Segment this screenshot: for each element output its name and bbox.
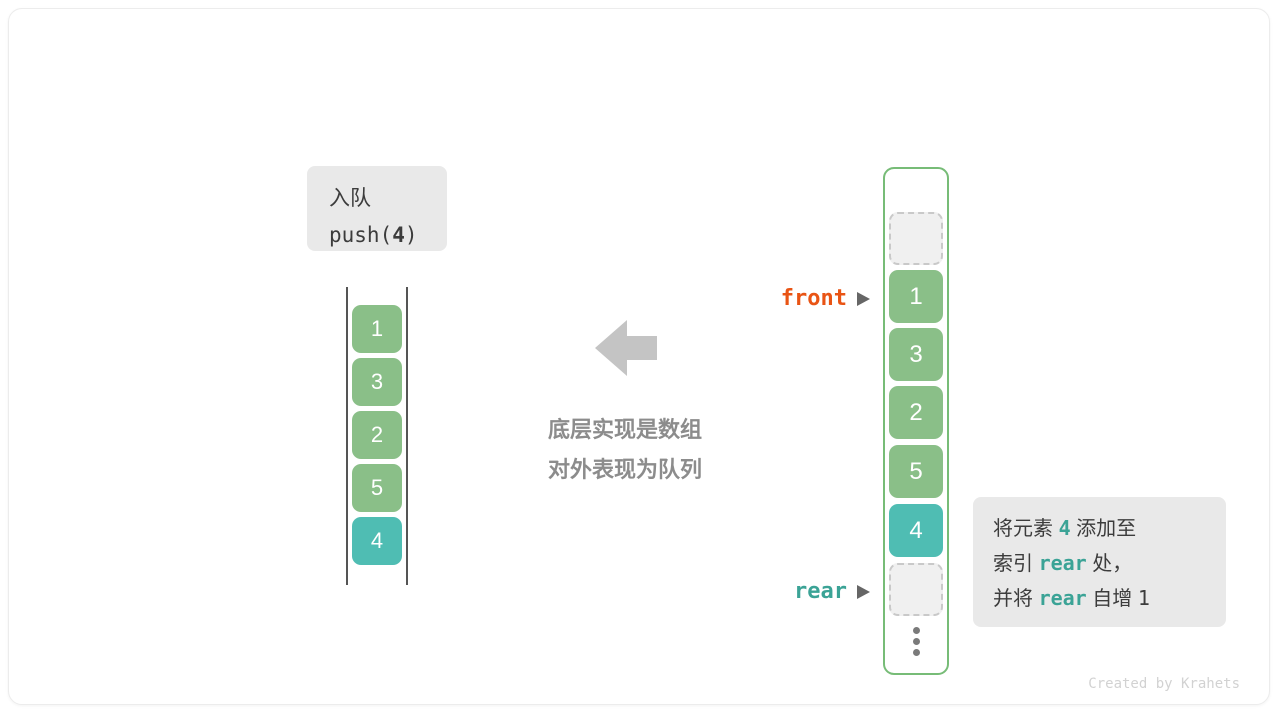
center-caption-line-2: 对外表现为队列 [460,450,790,490]
triangle-right-icon [857,292,870,306]
note-line-3: 并将 rear 自增 1 [993,581,1226,616]
note-number: 1 [1138,586,1150,610]
queue-slot-empty [889,563,943,616]
note-code: 4 [1059,516,1071,540]
left-array-cell: 1 [352,305,402,353]
note-text: 自增 [1087,588,1138,610]
front-pointer: front [700,286,870,311]
note-text: 索引 [993,553,1039,575]
queue-slot: 1 [889,270,943,323]
queue-slot: 5 [889,445,943,498]
note-text: 处， [1087,553,1133,575]
front-pointer-label: front [781,286,847,311]
push-label-title: 入队 [329,180,447,217]
rear-pointer: rear [700,579,870,604]
note-code: rear [1039,551,1087,575]
note-line-2: 索引 rear 处， [993,546,1226,581]
left-array-cell-highlight: 4 [352,517,402,565]
push-call-arg: 4 [392,223,405,247]
note-text: 添加至 [1071,518,1137,540]
push-call-open: push( [329,223,392,247]
push-call-close: ) [405,223,418,247]
vertical-ellipsis-icon-bottom [885,625,947,658]
left-array-cell: 5 [352,464,402,512]
center-caption-line-1: 底层实现是数组 [460,410,790,450]
diagram-canvas: 入队 push(4) 1 3 2 5 4 底层实现是数组 对外表现为队列 fro… [0,0,1280,720]
operation-note: 将元素 4 添加至 索引 rear 处， 并将 rear 自增 1 [973,497,1226,627]
note-line-1: 将元素 4 添加至 [993,511,1226,546]
left-array-cell: 2 [352,411,402,459]
queue-slot: 2 [889,386,943,439]
queue-slot-highlight: 4 [889,504,943,557]
push-operation-label: 入队 push(4) [307,166,447,251]
arrow-left-icon [593,318,659,378]
push-label-call: push(4) [329,217,447,254]
triangle-right-icon [857,585,870,599]
array-rail-left [346,287,348,585]
note-text: 将元素 [993,518,1059,540]
left-array-cell: 3 [352,358,402,406]
credit-text: Created by Krahets [1000,676,1240,692]
queue-slot: 3 [889,328,943,381]
array-rail-right [406,287,408,585]
circular-array-container: 1 3 2 5 4 [883,167,949,675]
queue-slot-empty [889,212,943,265]
note-text: 并将 [993,588,1039,610]
note-code: rear [1039,586,1087,610]
center-caption: 底层实现是数组 对外表现为队列 [460,410,790,490]
rear-pointer-label: rear [794,579,847,604]
